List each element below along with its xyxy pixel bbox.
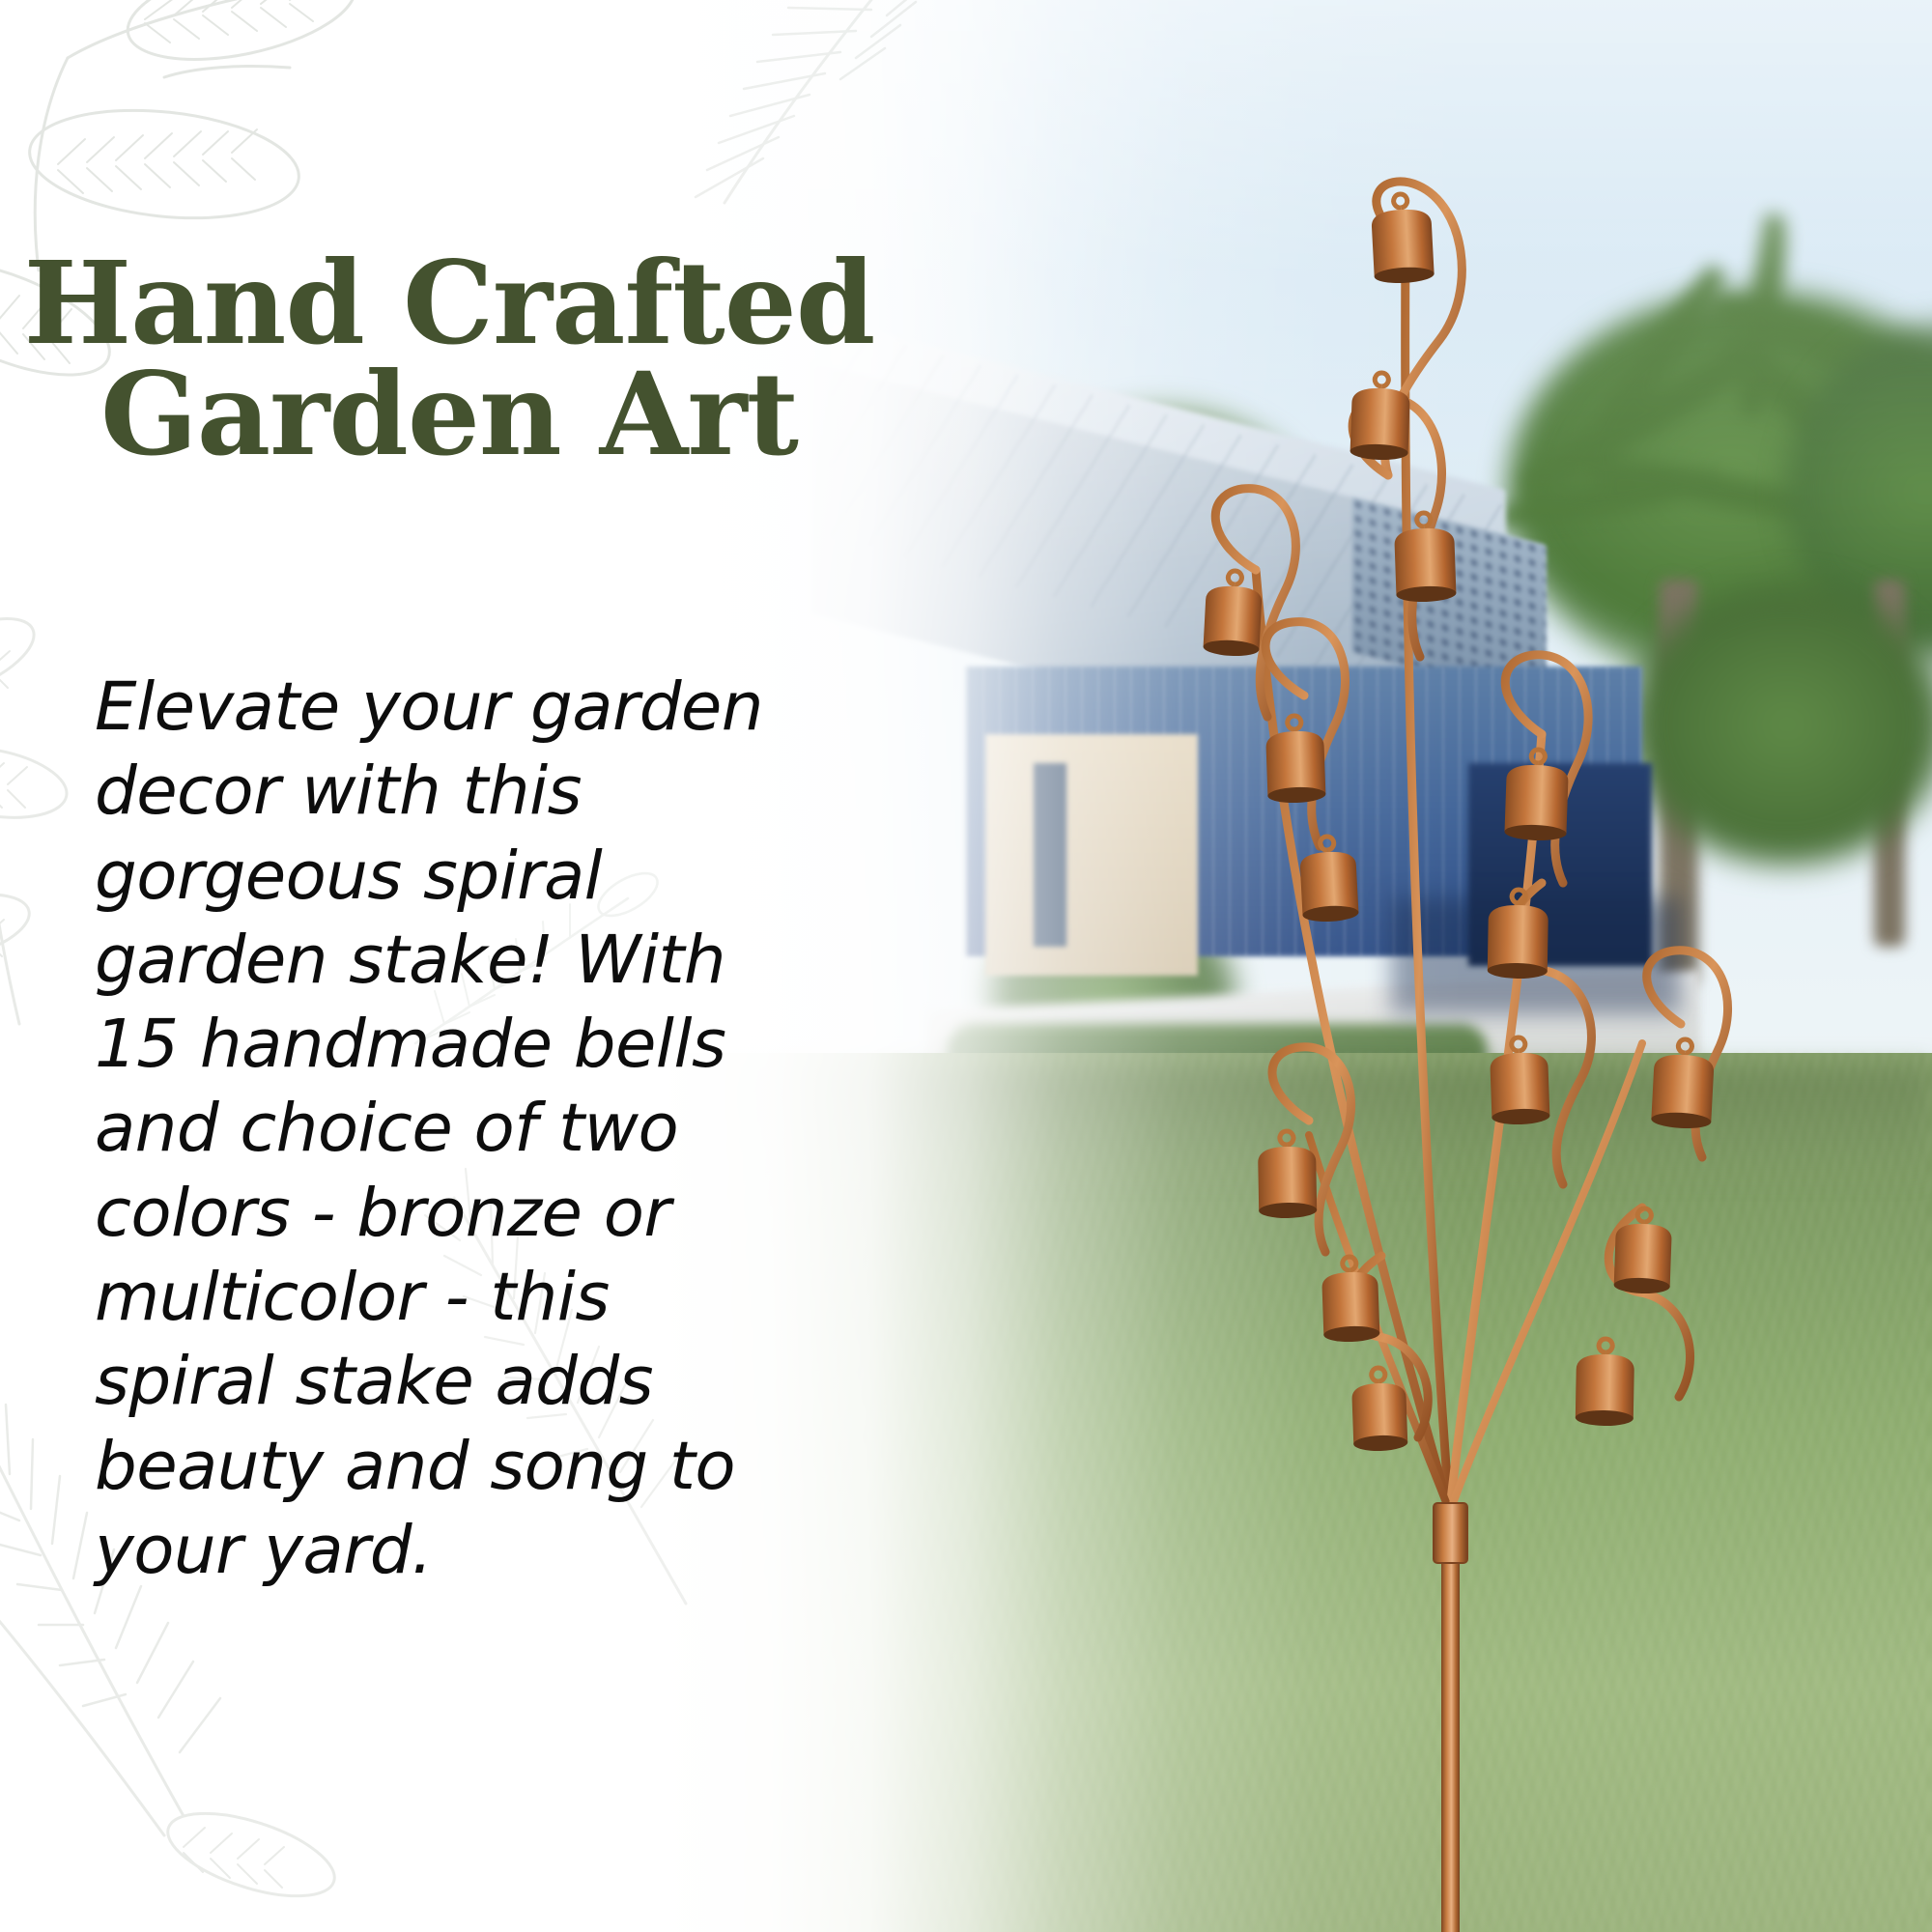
product-description: Elevate your garden decor with this gorg… (95, 666, 771, 1593)
headline-line-1: Hand Crafted (0, 248, 898, 358)
marketing-banner: Hand Crafted Garden Art Elevate your gar… (0, 0, 1932, 1932)
page-title: Hand Crafted Garden Art (0, 248, 898, 469)
headline-line-2: Garden Art (0, 359, 898, 469)
